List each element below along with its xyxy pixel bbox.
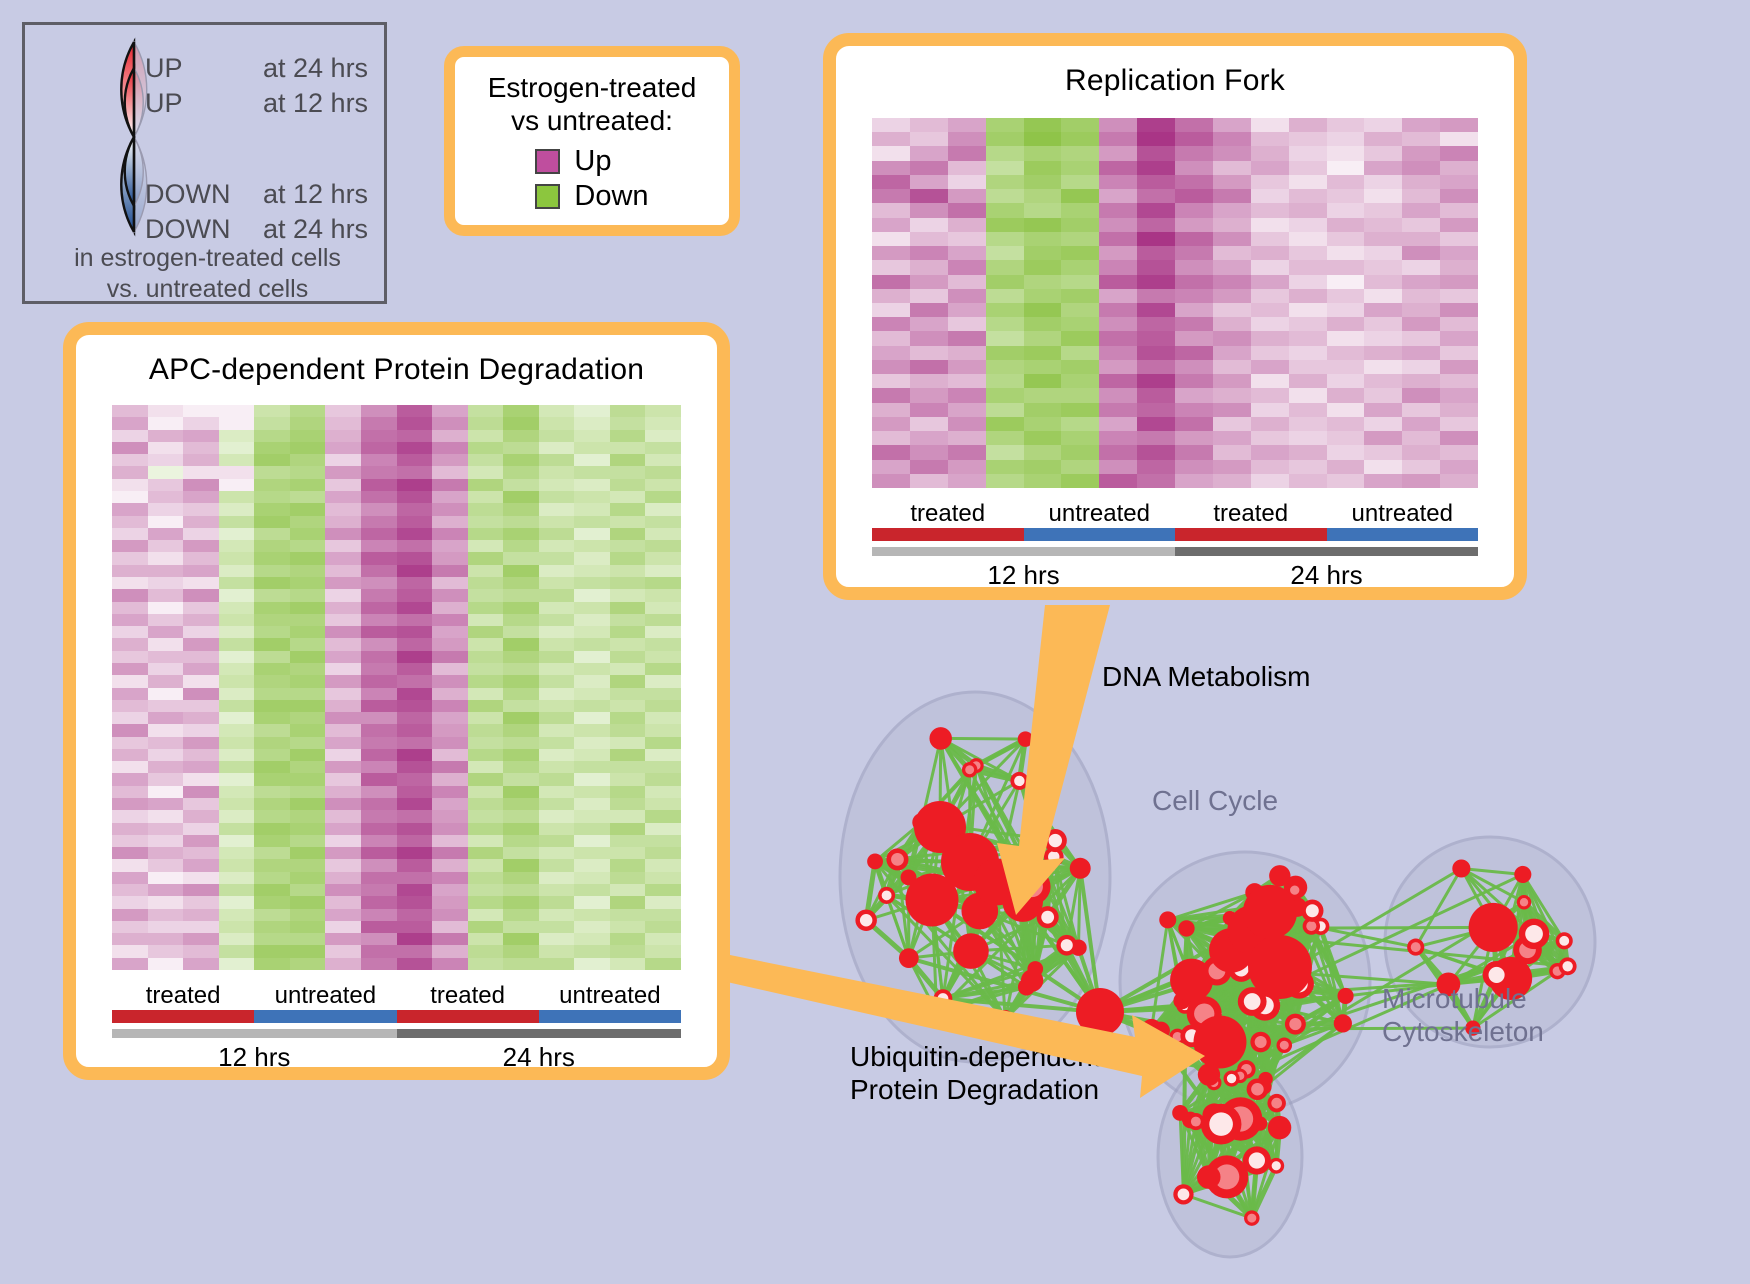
legend-items: Up Down bbox=[535, 143, 648, 215]
key-footer-line1: in estrogen-treated cells bbox=[25, 243, 390, 274]
panel-title: Replication Fork bbox=[836, 64, 1514, 98]
legend-label-up: Up bbox=[574, 145, 611, 178]
group-label: untreated bbox=[254, 982, 396, 1010]
timepoint-color-bar bbox=[112, 1029, 681, 1038]
column-group-labels: treated untreated treated untreated bbox=[872, 500, 1478, 528]
color-key-rows: UP at 24 hrs UP at 12 hrs DOWN at 12 hrs… bbox=[145, 51, 395, 247]
group-label: untreated bbox=[1024, 500, 1176, 528]
color-key-row: UP at 12 hrs bbox=[145, 86, 395, 121]
cluster-label-cell-cycle: Cell Cycle bbox=[1152, 784, 1278, 817]
timepoint-labels: 12 hrs 24 hrs bbox=[112, 1042, 681, 1073]
legend-label-down: Down bbox=[574, 180, 648, 213]
color-key-box: UP at 24 hrs UP at 12 hrs DOWN at 12 hrs… bbox=[22, 22, 387, 304]
time-label: 24 hrs bbox=[1175, 560, 1478, 591]
legend-swatch-down bbox=[535, 184, 560, 209]
cluster-label-dna-metabolism: DNA Metabolism bbox=[1102, 660, 1311, 693]
legend-item-down: Down bbox=[535, 180, 648, 213]
apc-degradation-panel: APC-dependent Protein Degradation treate… bbox=[63, 322, 730, 1080]
color-key-row: DOWN at 12 hrs bbox=[145, 177, 395, 212]
timepoint-labels: 12 hrs 24 hrs bbox=[872, 560, 1478, 591]
heatmap-replication-fork bbox=[872, 118, 1478, 488]
group-label: treated bbox=[112, 982, 254, 1010]
cluster-label-ubiquitin-degradation: Ubiquitin-dependent Protein Degradation bbox=[850, 1040, 1101, 1106]
cluster-label-microtubule-cytoskeleton: Microtubule Cytoskeleton bbox=[1382, 982, 1544, 1048]
pathway-network-diagram: DNA Metabolism Cell Cycle Microtubule Cy… bbox=[800, 612, 1750, 1279]
replication-fork-panel: Replication Fork treated untreated treat… bbox=[823, 33, 1527, 600]
color-key-footer: in estrogen-treated cells vs. untreated … bbox=[25, 243, 390, 304]
column-group-labels: treated untreated treated untreated bbox=[112, 982, 681, 1010]
time-label: 12 hrs bbox=[872, 560, 1175, 591]
legend-swatch-up bbox=[535, 149, 560, 174]
key-direction: UP bbox=[145, 86, 263, 121]
group-label: treated bbox=[397, 982, 539, 1010]
time-label: 24 hrs bbox=[397, 1042, 682, 1073]
time-label: 12 hrs bbox=[112, 1042, 397, 1073]
legend-item-up: Up bbox=[535, 145, 648, 178]
key-time: at 12 hrs bbox=[263, 177, 368, 212]
key-time: at 24 hrs bbox=[263, 51, 368, 86]
key-direction: DOWN bbox=[145, 177, 263, 212]
key-time: at 12 hrs bbox=[263, 86, 368, 121]
timepoint-color-bar bbox=[872, 547, 1478, 556]
key-footer-line2: vs. untreated cells bbox=[25, 274, 390, 305]
treatment-color-bar bbox=[872, 528, 1478, 541]
panel-title: APC-dependent Protein Degradation bbox=[76, 353, 717, 387]
heatmap-apc bbox=[112, 405, 681, 970]
key-direction: UP bbox=[145, 51, 263, 86]
legend-panel: Estrogen-treated vs untreated: Up Down bbox=[444, 46, 740, 236]
group-label: untreated bbox=[539, 982, 681, 1010]
group-label: treated bbox=[1175, 500, 1327, 528]
legend-heading-line2: vs untreated: bbox=[455, 104, 729, 137]
color-key-row: UP at 24 hrs bbox=[145, 51, 395, 86]
legend-heading-line1: Estrogen-treated bbox=[455, 71, 729, 104]
network-graph bbox=[800, 612, 1750, 1279]
treatment-color-bar bbox=[112, 1010, 681, 1023]
group-label: untreated bbox=[1327, 500, 1479, 528]
group-label: treated bbox=[872, 500, 1024, 528]
